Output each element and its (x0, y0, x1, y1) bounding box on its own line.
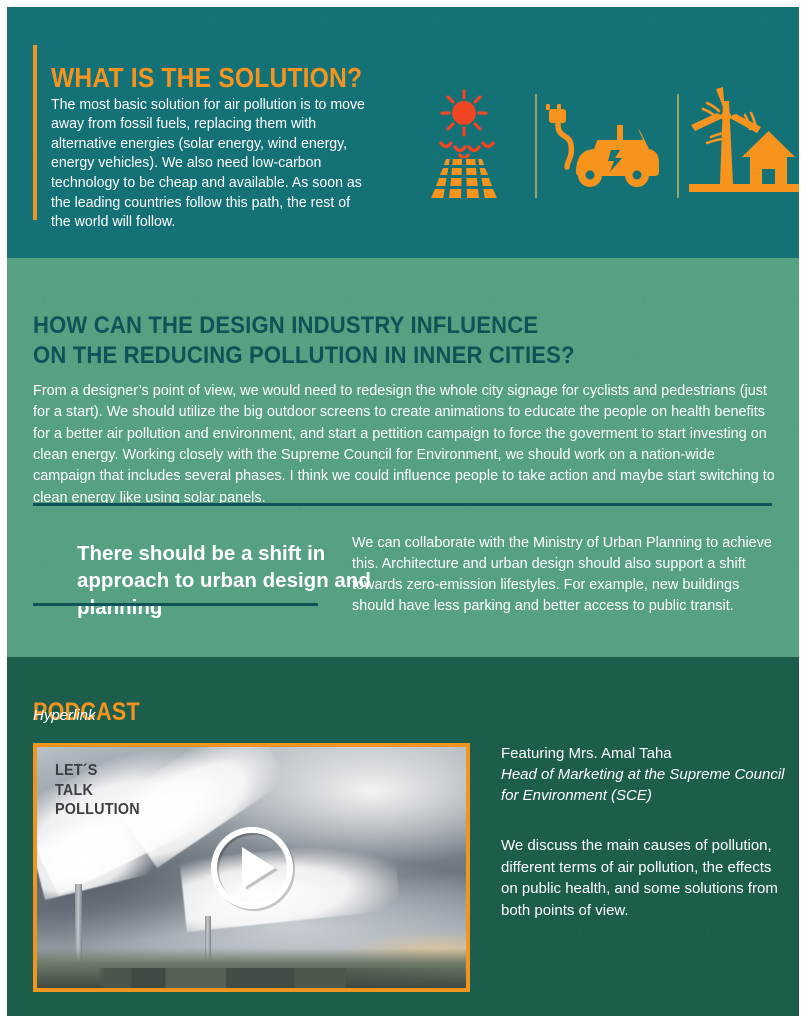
section-podcast: PODCAST Hyperlink LET´S TALK POLLUTION (7, 657, 799, 1016)
design-title-line1: HOW CAN THE DESIGN INDUSTRY INFLUENCE (33, 312, 538, 339)
play-button-icon[interactable] (208, 824, 296, 912)
industrial-skyline (37, 968, 466, 988)
podcast-video-thumbnail[interactable]: LET´S TALK POLLUTION (33, 743, 470, 992)
podcast-hyperlink[interactable]: Hyperlink (33, 707, 96, 724)
design-title: HOW CAN THE DESIGN INDUSTRY INFLUENCE ON… (33, 311, 575, 371)
energy-icon-row (399, 87, 791, 202)
solar-panel-icon (405, 87, 523, 202)
podcast-featuring: Featuring Mrs. Amal Taha Head of Marketi… (501, 743, 791, 806)
section-design-industry-influence: HOW CAN THE DESIGN INDUSTRY INFLUENCE ON… (7, 258, 799, 657)
solution-title: WHAT IS THE SOLUTION? (51, 62, 362, 94)
quote-rule-bottom (33, 603, 318, 606)
icon-divider-2 (677, 94, 679, 198)
video-caption-text: LET´S TALK POLLUTION (55, 761, 140, 820)
orange-accent-bar (33, 45, 37, 220)
section-what-is-the-solution: WHAT IS THE SOLUTION? The most basic sol… (7, 7, 799, 258)
design-title-line2: ON THE REDUCING POLLUTION IN INNER CITIE… (33, 342, 575, 369)
quote-rule-top (33, 503, 772, 506)
quote-body-text: We can collaborate with the Ministry of … (352, 533, 776, 618)
electric-car-icon (545, 87, 663, 202)
design-body-text: From a designer’s point of view, we woul… (33, 381, 779, 509)
podcast-description: We discuss the main causes of pollution,… (501, 835, 789, 921)
icon-divider-1 (535, 94, 537, 198)
featuring-name: Featuring Mrs. Amal Taha (501, 745, 672, 762)
infographic-page: WHAT IS THE SOLUTION? The most basic sol… (7, 7, 799, 1016)
featuring-role: Head of Marketing at the Supreme Council… (501, 764, 791, 806)
wind-turbine-house-icon (687, 87, 799, 202)
pull-quote: There should be a shift in approach to u… (77, 540, 377, 621)
solution-body-text: The most basic solution for air pollutio… (51, 96, 371, 233)
